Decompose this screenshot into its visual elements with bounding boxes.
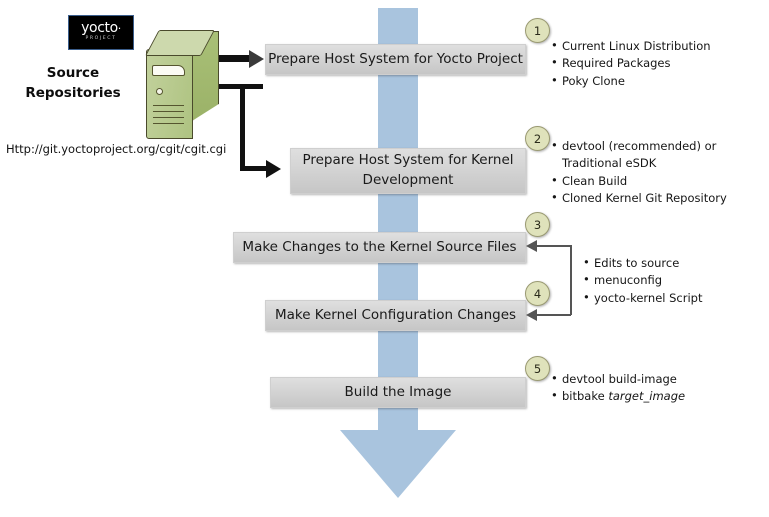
return-bracket-bottom-horizontal	[536, 314, 571, 316]
note-text: devtool build-image	[562, 372, 677, 386]
list-item: Current Linux Distribution	[551, 38, 761, 55]
connector-to-step-2-vertical	[240, 84, 245, 171]
step-box-2-label: Prepare Host System for Kernel Developme…	[291, 151, 525, 190]
list-item: bitbake target_image	[551, 388, 751, 405]
diagram-canvas: yocto· PROJECT Source Repositories Http:…	[0, 0, 769, 517]
step-box-2[interactable]: Prepare Host System for Kernel Developme…	[290, 148, 526, 194]
server-front-panel	[146, 49, 193, 139]
step-1-notes: Current Linux Distribution Required Pack…	[551, 38, 761, 90]
source-repositories-url: Http://git.yoctoproject.org/cgit/cgit.cg…	[6, 142, 231, 156]
step-box-4[interactable]: Make Kernel Configuration Changes	[265, 300, 526, 331]
step-number-badge-5: 5	[525, 356, 550, 381]
return-arrowhead-step-4	[526, 309, 537, 321]
list-item: Poky Clone	[551, 73, 761, 90]
list-item: yocto-kernel Script	[583, 290, 758, 307]
server-vent-line	[153, 111, 184, 112]
connector-to-step-1-arrowhead	[249, 50, 264, 68]
list-item: Required Packages	[551, 55, 761, 72]
list-item: Cloned Kernel Git Repository	[551, 190, 763, 207]
connector-to-step-2-arrowhead	[266, 160, 281, 178]
return-arrowhead-step-3	[526, 240, 537, 252]
step-2-notes: devtool (recommended) or Traditional eSD…	[551, 138, 763, 208]
logo-wordmark-text: yocto·	[69, 21, 133, 35]
step-number-badge-1: 1	[525, 18, 550, 43]
logo-subtitle: PROJECT	[69, 37, 133, 42]
step-box-5[interactable]: Build the Image	[270, 377, 526, 408]
source-repositories-label: Source Repositories	[12, 64, 134, 103]
list-item: devtool (recommended) or Traditional eSD…	[551, 138, 763, 173]
return-bracket-vertical	[570, 245, 572, 315]
list-item: devtool build-image	[551, 371, 751, 388]
server-power-led-icon	[156, 88, 163, 95]
list-item: Edits to source	[583, 255, 758, 272]
return-bracket-top-horizontal	[536, 245, 571, 247]
list-item: menuconfig	[583, 272, 758, 289]
logo-dot: ·	[118, 22, 121, 35]
list-item: Clean Build	[551, 173, 763, 190]
yocto-project-logo: yocto· PROJECT	[68, 15, 134, 50]
step-box-1[interactable]: Prepare Host System for Yocto Project	[265, 44, 526, 75]
note-text: bitbake	[562, 389, 608, 403]
step-box-3-label: Make Changes to the Kernel Source Files	[242, 238, 516, 258]
step-box-1-label: Prepare Host System for Yocto Project	[268, 50, 523, 70]
step-number-badge-3: 3	[525, 212, 550, 237]
step-3-and-4-notes: Edits to source menuconfig yocto-kernel …	[583, 255, 758, 307]
server-vent-line	[153, 123, 184, 124]
server-vent-line	[153, 105, 184, 106]
step-box-3[interactable]: Make Changes to the Kernel Source Files	[233, 232, 526, 263]
step-box-4-label: Make Kernel Configuration Changes	[275, 306, 516, 326]
server-tower-icon	[137, 27, 219, 139]
step-number-badge-4: 4	[525, 281, 550, 306]
step-box-5-label: Build the Image	[345, 383, 452, 403]
note-emphasis: target_image	[608, 389, 685, 403]
server-drive-slot-icon	[152, 65, 185, 76]
process-flow-arrow-head	[340, 430, 456, 498]
logo-wordmark: yocto	[81, 20, 118, 36]
server-vent-line	[153, 117, 184, 118]
step-5-notes: devtool build-image bitbake target_image	[551, 371, 751, 406]
step-number-badge-2: 2	[525, 126, 550, 151]
